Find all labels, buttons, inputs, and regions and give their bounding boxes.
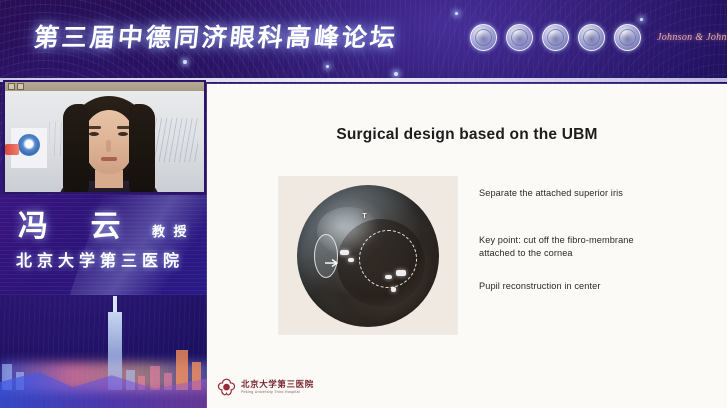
eye-specular-highlight <box>340 250 349 255</box>
presenter-nameplate: 冯 云 教 授 北京大学第三医院 <box>0 195 207 295</box>
video-background-emblem-icon <box>18 134 40 156</box>
eye-specular-highlight <box>348 258 354 262</box>
speaker-video-feed[interactable] <box>5 82 204 192</box>
eye-specular-highlight <box>391 287 396 292</box>
presenter-academic-title: 教 授 <box>152 221 189 240</box>
ellipse-annotation <box>314 234 338 278</box>
city-skyline-graphic <box>0 288 215 408</box>
skyline-building <box>150 366 160 390</box>
seal-logo-1-icon <box>470 24 497 51</box>
minimize-icon[interactable] <box>8 83 15 90</box>
hospital-name-chinese: 北京大学第三医院 <box>241 381 314 390</box>
speaker-hair-front-left <box>63 104 89 192</box>
hospital-logo: 北京大学第三医院 Peking University Third Hospita… <box>217 378 314 397</box>
bullet-2-line-2: attached to the cornea <box>479 248 573 258</box>
speaker-eye-right <box>118 132 128 136</box>
bullet-3: Pupil reconstruction in center <box>479 280 600 293</box>
hospital-logo-text: 北京大学第三医院 Peking University Third Hospita… <box>241 381 314 395</box>
presentation-slide[interactable]: Surgical design based on the UBM T <box>207 84 727 408</box>
speaker-mouth <box>101 157 117 161</box>
speaker-eye-left <box>89 132 99 136</box>
bullet-1: Separate the attached superior iris <box>479 187 623 200</box>
bullet-2: Key point: cut off the fibro-membrane at… <box>479 234 634 261</box>
presenter-name: 冯 云 <box>18 201 136 245</box>
seal-logo-4-icon <box>578 24 605 51</box>
video-background-red-accent <box>5 144 19 155</box>
video-window-titlebar[interactable] <box>5 82 204 91</box>
conference-banner: 第三届中德同济眼科高峰论坛 Johnson & Johnson <box>0 0 727 78</box>
seal-logo-3-icon <box>542 24 569 51</box>
ubm-eye-photo-frame: T <box>279 177 457 334</box>
speaker-hair-front-right <box>129 104 155 192</box>
seal-logo-2-icon <box>506 24 533 51</box>
sponsor-wordmark: Johnson & Johnson <box>657 32 727 43</box>
speaker-eyebrow-left <box>88 126 101 129</box>
conference-title: 第三届中德同济眼科高峰论坛 <box>32 18 400 54</box>
sponsor-logo-row: Johnson & Johnson <box>470 24 727 51</box>
ubm-eye-photo: T <box>283 181 453 330</box>
plum-blossom-icon <box>217 378 236 397</box>
speaker-nose <box>106 140 111 152</box>
seal-logo-5-icon <box>614 24 641 51</box>
broadcast-stage: 第三届中德同济眼科高峰论坛 Johnson & Johnson <box>0 0 727 408</box>
presenter-organization: 北京大学第三医院 <box>16 247 184 271</box>
hospital-name-english: Peking University Third Hospital <box>241 391 314 395</box>
t-marker-label: T <box>362 213 366 220</box>
arrow-annotation-icon <box>325 258 339 268</box>
speaker-video-frame[interactable] <box>3 80 206 194</box>
eye-globe: T <box>297 185 439 327</box>
bullet-2-line-1: Key point: cut off the fibro-membrane <box>479 235 634 245</box>
slide-title: Surgical design based on the UBM <box>207 126 727 144</box>
maximize-icon[interactable] <box>17 83 24 90</box>
